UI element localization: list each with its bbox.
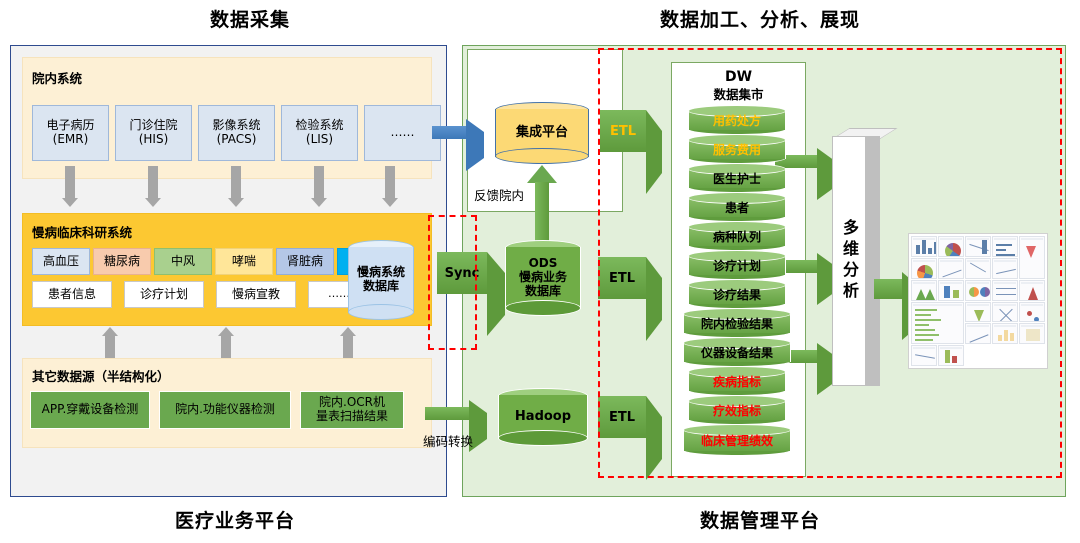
chronic-db-line1: 慢病系统	[357, 266, 405, 280]
integration-platform-cylinder[interactable]: 集成平台	[495, 102, 589, 164]
dw-item-medication-prescription[interactable]: 用药处方	[688, 105, 786, 135]
dw-item-disease-cohort[interactable]: 病种队列	[688, 221, 786, 251]
dw-item-doctor-nurse[interactable]: 医生护士	[688, 163, 786, 193]
caption-data-management-platform: 数据管理平台	[620, 508, 900, 536]
disease-tag-stroke[interactable]: 中风	[154, 248, 212, 275]
system-box-pacs[interactable]: 影像系统 (PACS)	[198, 105, 275, 161]
function-box-patient-info[interactable]: 患者信息	[32, 281, 112, 308]
dw-item-label: 用药处方	[688, 105, 786, 135]
disease-tag-kidney[interactable]: 肾脏病	[276, 248, 334, 275]
dw-item-label: 服务费用	[688, 134, 786, 164]
system-box-lis[interactable]: 检验系统 (LIS)	[281, 105, 358, 161]
source-box-ocr-line1: 院内.OCR机	[319, 396, 385, 410]
dw-item-label: 仪器设备结果	[683, 337, 791, 367]
dw-item-device-result[interactable]: 仪器设备结果	[683, 337, 791, 367]
caption-medical-business-platform: 医疗业务平台	[120, 508, 350, 536]
arrow-ocr-to-hadoop	[425, 400, 487, 426]
source-box-app-wearable[interactable]: APP.穿戴设备检测	[30, 391, 150, 429]
dw-item-label: 诊疗结果	[688, 279, 786, 309]
integration-platform-label: 集成平台	[495, 102, 589, 164]
source-box-ocr-scan[interactable]: 院内.OCR机 量表扫描结果	[300, 391, 404, 429]
hadoop-cylinder[interactable]: Hadoop	[498, 388, 588, 446]
dw-item-label: 诊疗计划	[688, 250, 786, 280]
dw-item-label: 病种队列	[688, 221, 786, 251]
hadoop-label: Hadoop	[498, 388, 588, 446]
system-box-his[interactable]: 门诊住院 (HIS)	[115, 105, 192, 161]
chronic-db-line2: 数据库	[363, 280, 399, 294]
flow-arrow-more-down	[382, 166, 398, 207]
ods-database-cylinder[interactable]: ODS 慢病业务 数据库	[505, 240, 581, 316]
arrow-hospital-to-integration	[432, 119, 484, 145]
system-box-emr-line1: 电子病历	[46, 119, 94, 133]
disease-tag-diabetes[interactable]: 糖尿病	[93, 248, 151, 275]
function-box-health-education[interactable]: 慢病宣教	[216, 281, 296, 308]
flow-arrow-his-down	[145, 166, 161, 207]
system-box-his-line1: 门诊住院	[129, 119, 177, 133]
other-data-sources-title: 其它数据源（半结构化）	[32, 366, 170, 385]
source-box-ocr-line2: 量表扫描结果	[316, 410, 388, 424]
function-box-treatment-plan[interactable]: 诊疗计划	[124, 281, 204, 308]
system-box-his-line2: (HIS)	[139, 133, 169, 147]
ods-line2: 慢病业务	[519, 271, 567, 285]
dw-item-service-fee[interactable]: 服务费用	[688, 134, 786, 164]
caption-data-collection: 数据采集	[150, 8, 350, 34]
source-box-hospital-device[interactable]: 院内.功能仪器检测	[159, 391, 291, 429]
dw-item-patient[interactable]: 患者	[688, 192, 786, 222]
ods-line3: 数据库	[525, 285, 561, 299]
feedback-label: 反馈院内	[474, 185, 524, 204]
hospital-systems-title: 院内系统	[32, 68, 82, 87]
disease-tag-asthma[interactable]: 哮喘	[215, 248, 273, 275]
flow-arrow-pacs-down	[228, 166, 244, 207]
system-box-more[interactable]: ……	[364, 105, 441, 161]
highlight-dashed-box-right	[598, 48, 1062, 478]
system-box-lis-line2: (LIS)	[306, 133, 333, 147]
flow-arrow-lis-down	[311, 166, 327, 207]
flow-arrow-emr-down	[62, 166, 78, 207]
encode-convert-label: 编码转换	[423, 431, 473, 450]
dw-item-efficacy-index[interactable]: 疗效指标	[688, 395, 786, 425]
dw-item-label: 患者	[688, 192, 786, 222]
dw-item-label: 院内检验结果	[683, 308, 791, 338]
dw-item-treatment-plan[interactable]: 诊疗计划	[688, 250, 786, 280]
system-box-emr-line2: (EMR)	[53, 133, 89, 147]
chronic-disease-research-title: 慢病临床科研系统	[32, 222, 132, 241]
dw-item-clinical-management-performance[interactable]: 临床管理绩效	[683, 424, 791, 456]
dw-item-label: 临床管理绩效	[683, 424, 791, 456]
highlight-dashed-box-left	[428, 215, 477, 350]
dw-item-disease-index[interactable]: 疾病指标	[688, 366, 786, 396]
system-box-lis-line1: 检验系统	[295, 119, 343, 133]
dw-item-treatment-result[interactable]: 诊疗结果	[688, 279, 786, 309]
disease-tag-hypertension[interactable]: 高血压	[32, 248, 90, 275]
system-box-more-line1: ……	[391, 126, 415, 140]
chronic-system-database-cylinder[interactable]: 慢病系统 数据库	[348, 240, 414, 320]
system-box-pacs-line1: 影像系统	[212, 119, 260, 133]
caption-data-processing: 数据加工、分析、展现	[580, 8, 940, 34]
dw-item-label: 疾病指标	[688, 366, 786, 396]
system-box-emr[interactable]: 电子病历 (EMR)	[32, 105, 109, 161]
dw-item-label: 疗效指标	[688, 395, 786, 425]
dw-item-label: 医生护士	[688, 163, 786, 193]
system-box-pacs-line2: (PACS)	[217, 133, 257, 147]
dw-item-hospital-lab-result[interactable]: 院内检验结果	[683, 308, 791, 338]
